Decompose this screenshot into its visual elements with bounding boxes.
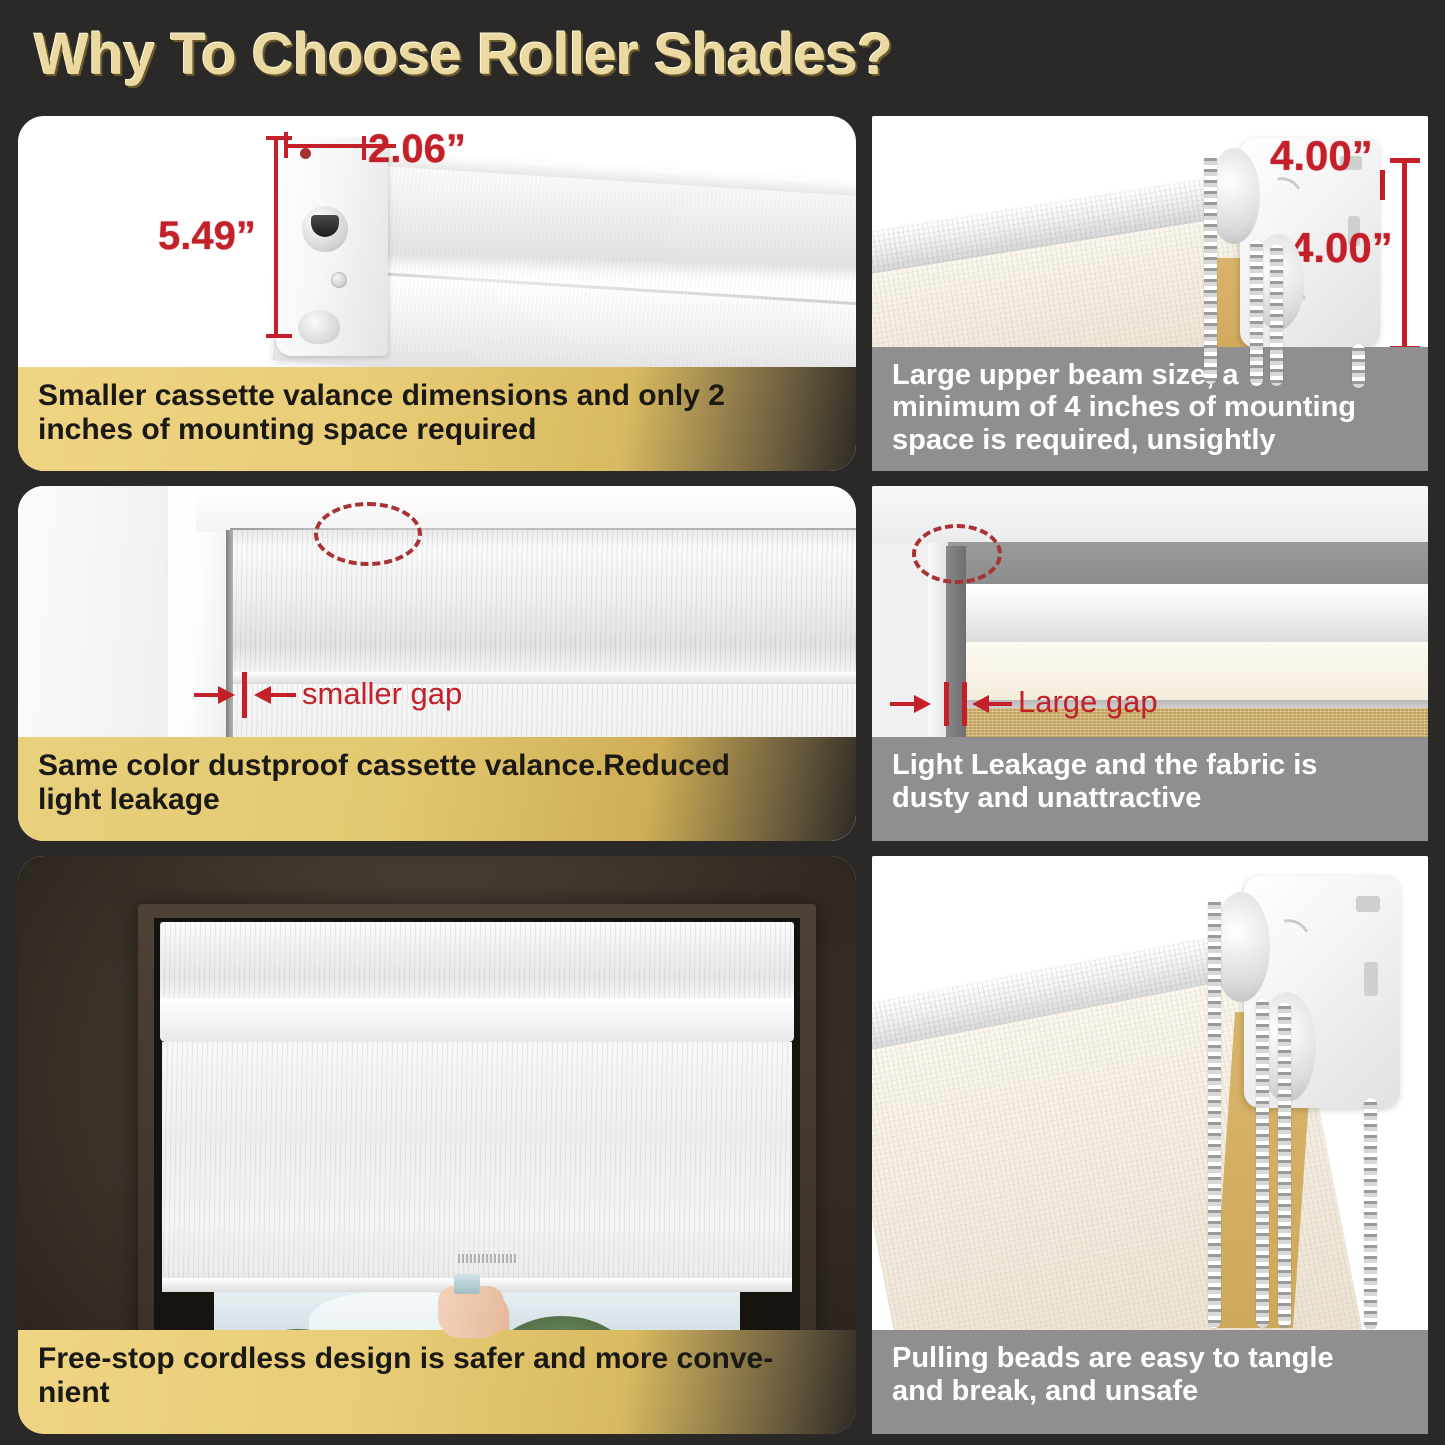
gap-arrow-stem-left <box>194 693 220 697</box>
caption-line-2: minimum of 4 inches of mounting <box>892 391 1410 424</box>
caption-line-1: Same color dustproof cassette valance.Re… <box>38 749 838 783</box>
caption-cassette-dimensions: Smaller cassette valance dimensions and … <box>18 367 856 471</box>
brand-logo <box>458 1254 518 1263</box>
panel-cordless-design: Free-stop cordless design is safer and m… <box>18 856 856 1434</box>
comparison-grid: 2.06” 5.49” Smaller cassette valance dim… <box>0 108 1445 1445</box>
valance-lower-lip <box>160 998 794 1042</box>
cassette-bracket-screw <box>298 310 340 344</box>
gap-arrow-right <box>218 686 235 704</box>
cassette-marker-dot <box>300 148 311 159</box>
beam-height-tick-top <box>1390 158 1420 163</box>
bead-chain-3 <box>1278 1002 1291 1328</box>
gap-arrow-stem-right <box>988 702 1012 706</box>
shade-fabric <box>162 1042 792 1286</box>
cassette-screw <box>331 272 347 288</box>
panel-cassette-dimensions: 2.06” 5.49” Smaller cassette valance dim… <box>18 116 856 471</box>
gap-marker-line <box>242 672 247 718</box>
beam-width-label: 4.00” <box>1270 132 1373 180</box>
gap-highlight-ellipse <box>314 502 422 566</box>
gap-arrow-right <box>914 695 931 713</box>
bracket-arc-icon <box>1270 914 1314 955</box>
height-dim-tick-top <box>266 136 292 140</box>
cassette-knob <box>302 206 348 252</box>
caption-line-1: Smaller cassette valance dimensions and … <box>38 379 838 413</box>
beam-width-tick-right <box>1380 170 1385 200</box>
height-dimension-label: 5.49” <box>158 214 256 259</box>
valance-texture <box>160 922 794 1000</box>
gap-callout-label: smaller gap <box>302 676 462 712</box>
panel-large-beam-dimensions: 4.00” 4.00” Large upper beam size, a min… <box>872 116 1428 471</box>
bead-chain-4 <box>1352 344 1365 388</box>
gap-callout-label: Large gap <box>1018 684 1158 720</box>
width-dimension-label: 2.06” <box>368 127 466 172</box>
caption-line-2: light leakage <box>38 783 838 817</box>
bead-chain-4 <box>1364 1098 1377 1330</box>
window-header <box>196 486 856 532</box>
panel-smaller-gap: smaller gap Same color dustproof cassett… <box>18 486 856 841</box>
caption-line-3: space is required, unsightly <box>892 424 1410 457</box>
gap-highlight-ellipse <box>912 524 1002 584</box>
cassette-valance <box>160 922 794 1000</box>
bracket-slot-top <box>1356 896 1380 912</box>
panel-large-gap: Large gap Light Leakage and the fabric i… <box>872 486 1428 841</box>
caption-line-1: Large upper beam size, a <box>892 359 1410 392</box>
bead-chain-2 <box>1256 998 1269 1328</box>
caption-smaller-gap: Same color dustproof cassette valance.Re… <box>18 737 856 841</box>
caption-line-1: Light Leakage and the fabric is <box>892 749 1410 782</box>
caption-line-2: inches of mounting space required <box>38 413 838 447</box>
beam-height-label: 4.00” <box>1290 224 1393 272</box>
bead-chain-3 <box>1270 244 1283 386</box>
gap-arrow-stem-right <box>270 693 296 697</box>
beam-height-dim-line <box>1402 160 1407 350</box>
gap-arrow-stem-left <box>890 702 916 706</box>
height-dim-tick-bottom <box>266 334 292 338</box>
roller-tube-white <box>956 584 1428 646</box>
caption-line-2: and break, and unsafe <box>892 1375 1410 1408</box>
page-title: Why To Choose Roller Shades? <box>34 21 892 88</box>
gap-arrow-left <box>254 686 271 704</box>
caption-line-2: nient <box>38 1376 838 1410</box>
bead-chain-1 <box>1204 154 1217 384</box>
page-header: Why To Choose Roller Shades? <box>0 0 1445 108</box>
gap-marker-line-b <box>962 682 967 726</box>
gap-arrow-left <box>972 695 989 713</box>
caption-line-1: Free-stop cordless design is safer and m… <box>38 1342 838 1376</box>
pull-tab <box>454 1274 480 1294</box>
caption-pulling-beads: Pulling beads are easy to tangle and bre… <box>872 1330 1428 1434</box>
panel-pulling-beads: Pulling beads are easy to tangle and bre… <box>872 856 1428 1434</box>
bead-chain-2 <box>1250 240 1263 386</box>
bracket-slot-mid <box>1364 962 1378 996</box>
ceiling-shadow <box>944 542 1428 590</box>
caption-line-2: dusty and unattractive <box>892 782 1410 815</box>
caption-large-gap: Light Leakage and the fabric is dusty an… <box>872 737 1428 841</box>
shade-texture <box>162 1042 792 1286</box>
width-dim-tick-right <box>362 136 366 160</box>
caption-line-1: Pulling beads are easy to tangle <box>892 1342 1410 1375</box>
caption-cordless-design: Free-stop cordless design is safer and m… <box>18 1330 856 1434</box>
caption-large-beam: Large upper beam size, a minimum of 4 in… <box>872 347 1428 471</box>
height-dim-line <box>274 138 278 338</box>
bead-chain-1 <box>1208 898 1221 1328</box>
gap-marker-line-a <box>944 682 949 726</box>
